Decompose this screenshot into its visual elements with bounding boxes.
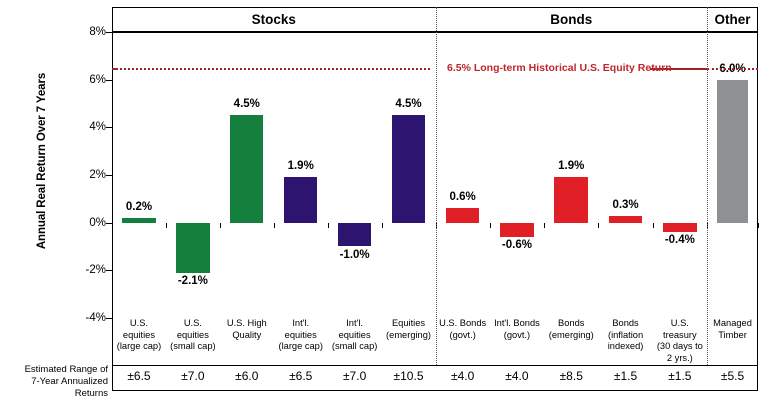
group-title-bonds: Bonds — [436, 7, 708, 32]
category-label: Int'l.equities(large cap) — [274, 318, 328, 353]
y-axis-tick-label: 6% — [60, 74, 106, 86]
y-axis-ticks: 8%6%4%2%0%-2%-4% — [56, 0, 106, 402]
bar-value-label: 1.9% — [536, 160, 606, 172]
category-label: Int'l.equities(small cap) — [328, 318, 382, 353]
bar-value-label: 0.2% — [104, 201, 174, 213]
category-label-line: 2 yrs.) — [653, 353, 707, 365]
category-label-line: (small cap) — [328, 341, 382, 353]
category-label-line: Equities — [382, 318, 436, 330]
chart-root: Annual Real Return Over 7 Years 8%6%4%2%… — [0, 0, 763, 402]
x-axis-tick-mark — [758, 223, 759, 228]
y-axis-tick-label: 0% — [60, 217, 106, 229]
benchmark-line-dotted-right — [707, 68, 758, 70]
range-row-band: ±6.5±7.0±6.0±6.5±7.0±10.5±4.0±4.0±8.5±1.… — [112, 365, 758, 391]
category-label: Equities(emerging) — [382, 318, 436, 341]
range-value: ±4.0 — [490, 369, 544, 383]
x-axis-tick-mark — [166, 223, 167, 228]
bar-value-label: -2.1% — [158, 275, 228, 287]
range-value: ±6.5 — [274, 369, 328, 383]
bar[interactable] — [663, 223, 697, 233]
group-separator — [436, 7, 437, 365]
bar[interactable] — [446, 208, 480, 222]
y-axis-tick-label: 8% — [60, 26, 106, 38]
range-value: ±1.5 — [598, 369, 652, 383]
range-value: ±6.5 — [112, 369, 166, 383]
bar-value-label: 0.3% — [591, 199, 661, 211]
x-axis-tick-mark — [490, 223, 491, 228]
category-label-line: Quality — [220, 330, 274, 342]
category-label-line: Int'l. Bonds — [490, 318, 544, 330]
category-label-line: (30 days to — [653, 341, 707, 353]
range-caption-line: 7-Year Annualized Returns — [0, 376, 108, 400]
y-axis-title: Annual Real Return Over 7 Years — [36, 31, 48, 291]
category-label-line: Bonds — [544, 318, 598, 330]
bar-value-label: 4.5% — [212, 98, 282, 110]
category-label-line: U.S. — [166, 318, 220, 330]
y-axis-tick-label: 2% — [60, 169, 106, 181]
benchmark-line-dotted-left — [112, 68, 430, 70]
benchmark-line-solid-left — [112, 68, 118, 70]
category-label: U.S.equities(large cap) — [112, 318, 166, 353]
category-label-line: equities — [274, 330, 328, 342]
category-label-line: Int'l. — [328, 318, 382, 330]
category-label: U.S.equities(small cap) — [166, 318, 220, 353]
category-label: U.S.treasury(30 days to2 yrs.) — [653, 318, 707, 364]
category-label-line: (emerging) — [382, 330, 436, 342]
range-value: ±7.0 — [328, 369, 382, 383]
category-label-line: (inflation — [598, 330, 652, 342]
range-value: ±7.0 — [166, 369, 220, 383]
category-label: Bonds(emerging) — [544, 318, 598, 341]
range-value: ±8.5 — [544, 369, 598, 383]
category-label-line: equities — [166, 330, 220, 342]
bar-value-label: -0.4% — [645, 234, 715, 246]
y-axis-tick-label: -2% — [60, 264, 106, 276]
category-label-line: (small cap) — [166, 341, 220, 353]
bar-value-label: 1.9% — [266, 160, 336, 172]
range-value: ±10.5 — [382, 369, 436, 383]
range-row-caption: Estimated Range of7-Year Annualized Retu… — [0, 364, 108, 400]
category-label-line: (govt.) — [436, 330, 490, 342]
x-axis-tick-mark — [653, 223, 654, 228]
bar[interactable] — [284, 177, 317, 222]
bar[interactable] — [176, 223, 209, 273]
range-value: ±6.0 — [220, 369, 274, 383]
bar[interactable] — [554, 177, 588, 222]
category-label-line: (govt.) — [490, 330, 544, 342]
category-label: Int'l. Bonds(govt.) — [490, 318, 544, 341]
category-label-line: Bonds — [598, 318, 652, 330]
benchmark-annotation-label: 6.5% Long-term Historical U.S. Equity Re… — [447, 62, 672, 74]
bar[interactable] — [122, 218, 155, 223]
category-label-line: U.S. Bonds — [436, 318, 490, 330]
group-title-stocks: Stocks — [112, 7, 436, 32]
category-label-line: U.S. — [112, 318, 166, 330]
range-value: ±5.5 — [707, 369, 758, 383]
bar[interactable] — [230, 115, 263, 222]
category-label-line: Managed — [707, 318, 758, 330]
category-label-line: treasury — [653, 330, 707, 342]
category-label-line: equities — [112, 330, 166, 342]
category-label-line: equities — [328, 330, 382, 342]
range-value: ±1.5 — [653, 369, 707, 383]
bar-value-label: -1.0% — [320, 249, 390, 261]
bar[interactable] — [609, 216, 643, 223]
category-label: Bonds(inflationindexed) — [598, 318, 652, 353]
x-axis-tick-mark — [220, 223, 221, 228]
x-axis-tick-mark — [274, 223, 275, 228]
bar-value-label: 4.5% — [374, 98, 444, 110]
y-axis-tick-label: 4% — [60, 121, 106, 133]
bar[interactable] — [717, 80, 749, 223]
category-label: U.S. Bonds(govt.) — [436, 318, 490, 341]
bar-value-label: 0.6% — [428, 191, 498, 203]
x-axis-tick-mark — [328, 223, 329, 228]
x-axis-tick-mark — [598, 223, 599, 228]
group-title-other: Other — [707, 7, 758, 32]
category-label: U.S. HighQuality — [220, 318, 274, 341]
category-label-line: (large cap) — [274, 341, 328, 353]
category-label-line: indexed) — [598, 341, 652, 353]
category-label: ManagedTimber — [707, 318, 758, 341]
x-axis-tick-mark — [544, 223, 545, 228]
x-axis-tick-mark — [382, 223, 383, 228]
category-label-line: Int'l. — [274, 318, 328, 330]
bar[interactable] — [338, 223, 371, 247]
range-value: ±4.0 — [436, 369, 490, 383]
category-label-line: (emerging) — [544, 330, 598, 342]
group-separator — [707, 7, 708, 365]
y-axis-tick-label: -4% — [60, 312, 106, 324]
bar[interactable] — [500, 223, 534, 237]
range-caption-line: Estimated Range of — [0, 364, 108, 376]
category-label-line: U.S. High — [220, 318, 274, 330]
category-label-line: (large cap) — [112, 341, 166, 353]
category-label-line: U.S. — [653, 318, 707, 330]
category-label-line: Timber — [707, 330, 758, 342]
bar-value-label: -0.6% — [482, 239, 552, 251]
bar[interactable] — [392, 115, 425, 222]
